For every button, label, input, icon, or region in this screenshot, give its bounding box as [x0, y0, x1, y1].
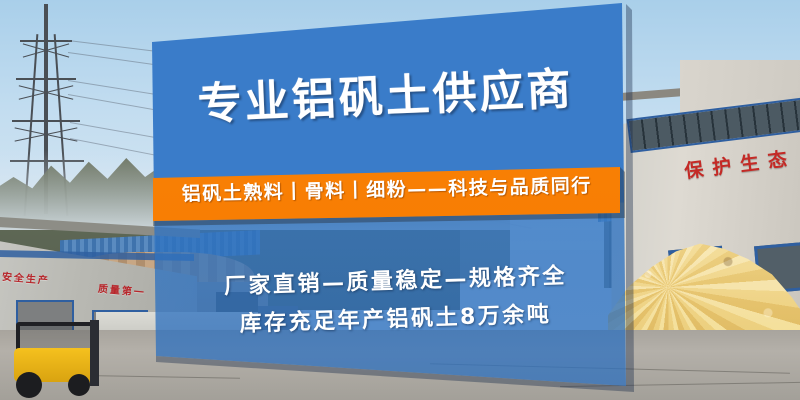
promotional-banner: 安全生产 质量第一 保护生态 — [0, 0, 800, 400]
forklift — [6, 322, 114, 398]
forklift-mast — [90, 320, 99, 386]
forklift-wheel — [68, 374, 90, 396]
forklift-wheel — [16, 372, 42, 398]
